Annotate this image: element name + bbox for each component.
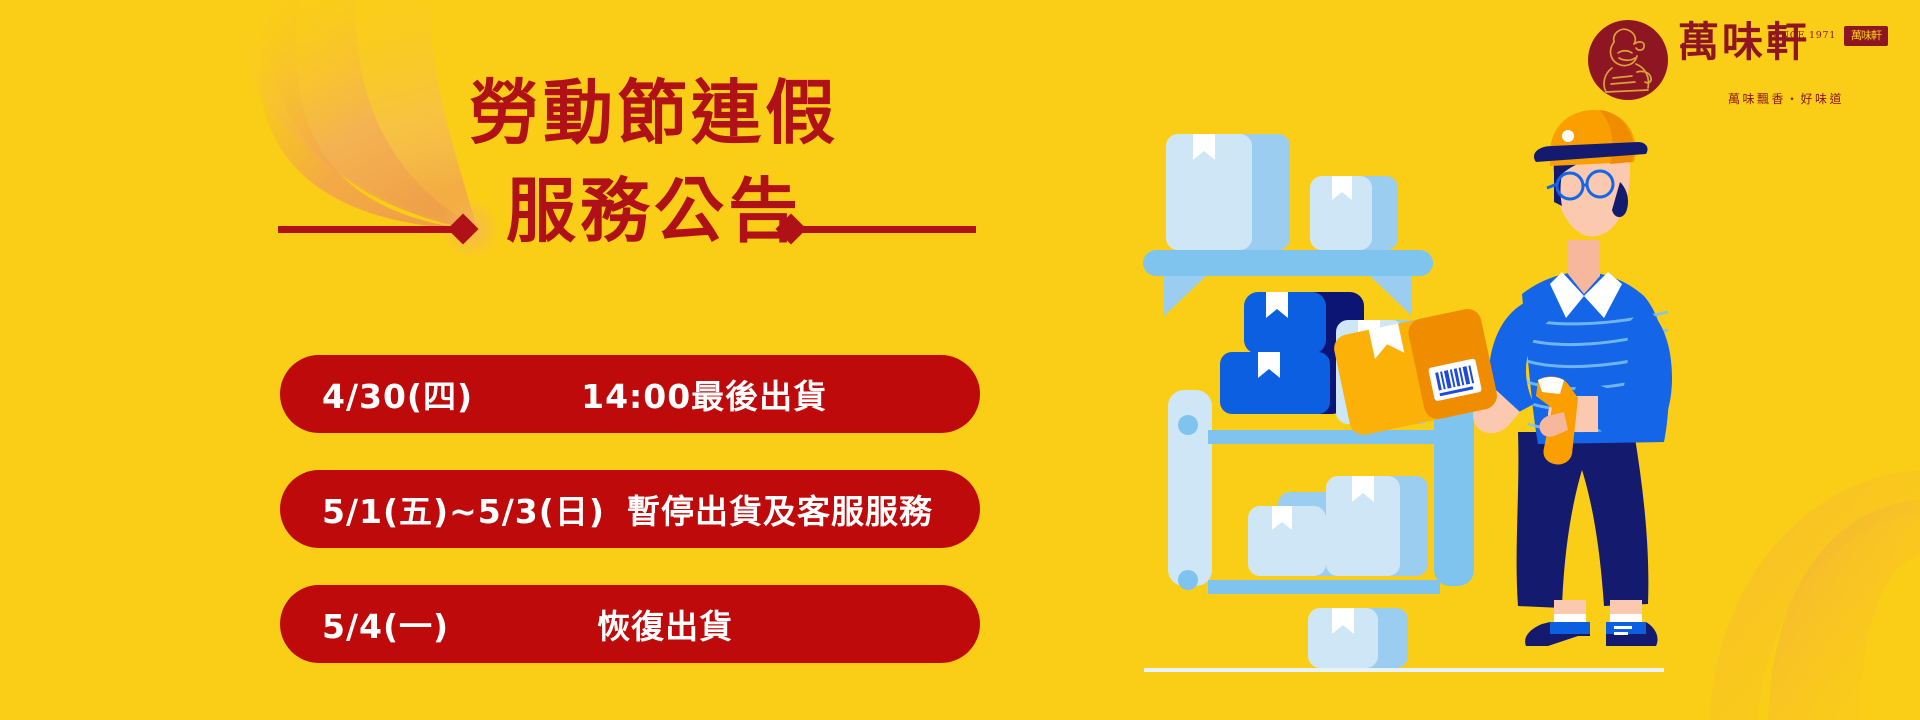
- schedule-row-3-date: 5/4(一): [322, 600, 449, 648]
- schedule-list: 4/30(四) 14:00最後出貨 5/1(五)~5/3(日) 暫停出貨及客服服…: [280, 355, 980, 663]
- schedule-row-2-date: 5/1(五)~5/3(日): [322, 485, 605, 533]
- schedule-row-2: 5/1(五)~5/3(日) 暫停出貨及客服服務: [280, 470, 980, 548]
- schedule-row-3: 5/4(一) 恢復出貨: [280, 585, 980, 663]
- brand-since-label: SINCE 1971: [1769, 30, 1836, 41]
- holiday-notice-banner: 萬味軒 SINCE 1971 萬味軒 萬味飄香‧好味道 勞動節連假 服務公告 4…: [0, 0, 1920, 720]
- divider-right: [780, 216, 976, 242]
- divider-left-diamond-icon: [447, 213, 478, 244]
- divider-left: [278, 216, 474, 242]
- divider-right-bar: [796, 226, 976, 233]
- schedule-row-3-note: 恢復出貨: [597, 600, 733, 648]
- divider-left-bar: [278, 226, 458, 233]
- headline-line-1: 勞動節連假: [298, 78, 1010, 148]
- schedule-row-2-note: 暫停出貨及客服服務: [627, 485, 933, 533]
- divider-right-diamond-icon: [775, 213, 806, 244]
- schedule-row-1-date: 4/30(四): [322, 370, 473, 418]
- brand-seal-stamp: 萬味軒: [1844, 26, 1888, 46]
- schedule-row-1: 4/30(四) 14:00最後出貨: [280, 355, 980, 433]
- upper-shelf-group: [1143, 134, 1433, 316]
- schedule-row-1-note: 14:00最後出貨: [581, 370, 827, 418]
- warehouse-worker-illustration: [1130, 80, 1770, 720]
